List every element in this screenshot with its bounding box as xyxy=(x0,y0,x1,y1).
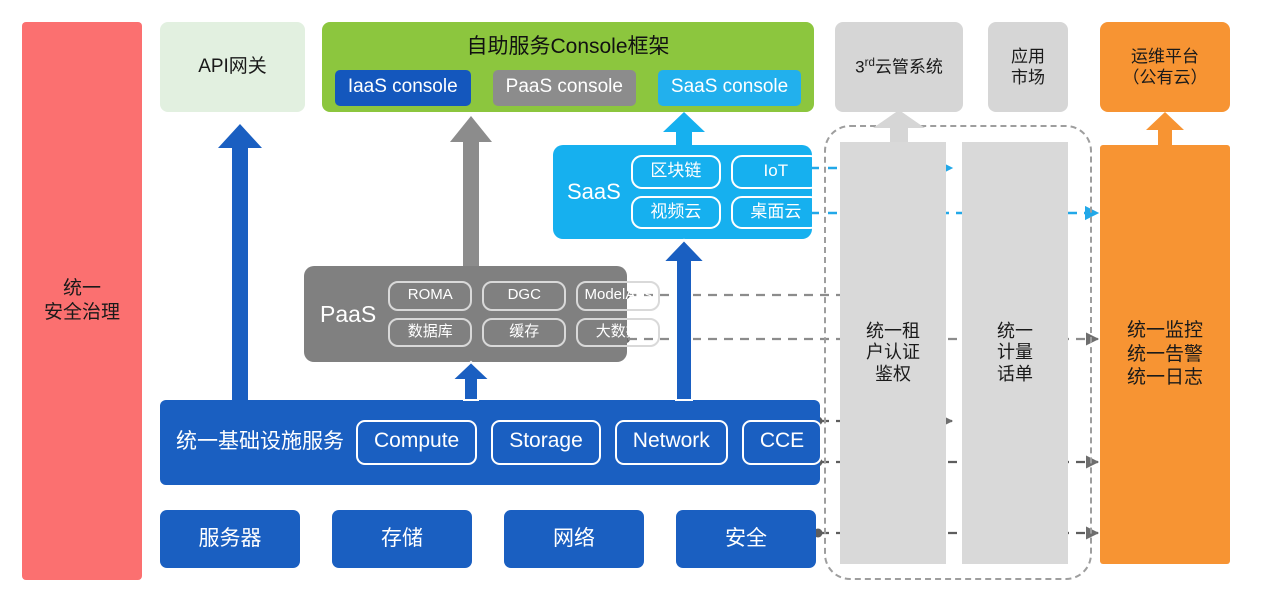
hardware-box-storage[interactable]: 存储 xyxy=(332,510,472,568)
infra-chip-network[interactable]: Network xyxy=(615,420,728,464)
unified-security-governance-panel[interactable]: 统一 安全治理 xyxy=(22,22,142,580)
api-gateway-label: API网关 xyxy=(198,55,267,79)
third-party-cloud-mgmt-label: 3rd云管系统 xyxy=(855,56,943,78)
console-chip-row: IaaS console PaaS console SaaS console xyxy=(335,70,801,106)
paas-label: PaaS xyxy=(320,300,376,329)
ops-platform-body-box[interactable]: 统一监控 统一告警 统一日志 xyxy=(1100,145,1230,564)
ops-platform-top-box[interactable]: 运维平台 （公有云） xyxy=(1100,22,1230,112)
saas-label: SaaS xyxy=(567,178,621,206)
saas-chip-video-cloud[interactable]: 视频云 xyxy=(631,196,721,229)
paas-chip-cache[interactable]: 缓存 xyxy=(482,318,566,348)
hardware-box-security[interactable]: 安全 xyxy=(676,510,816,568)
app-market-label: 应用 市场 xyxy=(1011,46,1045,89)
hardware-label-network: 网络 xyxy=(553,526,595,552)
api-gateway-box[interactable]: API网关 xyxy=(160,22,305,112)
hardware-label-storage: 存储 xyxy=(381,526,423,552)
unified-billing-label: 统一 计量 话单 xyxy=(997,321,1033,386)
saas-console-chip[interactable]: SaaS console xyxy=(658,70,801,106)
unified-billing-column[interactable]: 统一 计量 话单 xyxy=(962,142,1068,564)
paas-chip-bigdata[interactable]: 大数据 xyxy=(576,318,660,348)
arrow-saas-to-console xyxy=(663,112,705,148)
hardware-box-network[interactable]: 网络 xyxy=(504,510,644,568)
arrow-paas-to-console xyxy=(450,116,492,266)
console-framework-title: 自助服务Console框架 xyxy=(466,34,669,60)
app-market-box[interactable]: 应用 市场 xyxy=(988,22,1068,112)
paas-block[interactable]: PaaS ROMA DGC ModelArts 数据库 缓存 大数据 xyxy=(304,266,627,362)
paas-chip-modelarts[interactable]: ModelArts xyxy=(576,281,660,311)
hardware-label-server: 服务器 xyxy=(199,526,262,552)
saas-chip-blockchain[interactable]: 区块链 xyxy=(631,155,721,188)
infra-chip-cce[interactable]: CCE xyxy=(742,420,822,464)
third-party-cloud-mgmt-box[interactable]: 3rd云管系统 xyxy=(835,22,963,112)
saas-chip-iot[interactable]: IoT xyxy=(731,155,821,188)
hardware-box-server[interactable]: 服务器 xyxy=(160,510,300,568)
paas-chip-dgc[interactable]: DGC xyxy=(482,281,566,311)
unified-auth-label: 统一租 户认证 鉴权 xyxy=(866,321,920,386)
paas-console-chip[interactable]: PaaS console xyxy=(493,70,636,106)
ops-platform-top-label: 运维平台 （公有云） xyxy=(1123,46,1208,89)
arrow-infra-to-paas xyxy=(452,362,490,400)
ops-platform-body-label: 统一监控 统一告警 统一日志 xyxy=(1127,319,1203,390)
self-service-console-framework[interactable]: 自助服务Console框架 IaaS console PaaS console … xyxy=(322,22,814,112)
arrow-ops-body-to-top xyxy=(1146,112,1184,145)
arrow-infra-to-saas xyxy=(663,240,705,400)
infra-label: 统一基础设施服务 xyxy=(176,429,344,455)
infra-chip-compute[interactable]: Compute xyxy=(356,420,477,464)
architecture-diagram: 统一租 户认证 鉴权 统一 计量 话单 统一 安全治理 API网关 自助服务Co… xyxy=(0,0,1265,605)
saas-block[interactable]: SaaS 区块链 IoT 视频云 桌面云 xyxy=(553,145,812,239)
infra-chip-storage[interactable]: Storage xyxy=(491,420,601,464)
unified-auth-column[interactable]: 统一租 户认证 鉴权 xyxy=(840,142,946,564)
saas-chip-grid: 区块链 IoT 视频云 桌面云 xyxy=(631,155,821,229)
paas-chip-grid: ROMA DGC ModelArts 数据库 缓存 大数据 xyxy=(388,281,660,348)
unified-infrastructure-service-bar[interactable]: 统一基础设施服务 Compute Storage Network CCE xyxy=(160,400,820,485)
iaas-console-chip[interactable]: IaaS console xyxy=(335,70,471,106)
saas-chip-desktop-cloud[interactable]: 桌面云 xyxy=(731,196,821,229)
security-panel-label: 统一 安全治理 xyxy=(44,277,120,325)
hardware-label-security: 安全 xyxy=(725,526,767,552)
arrow-infra-to-api-gateway xyxy=(218,124,262,400)
paas-chip-roma[interactable]: ROMA xyxy=(388,281,472,311)
paas-chip-database[interactable]: 数据库 xyxy=(388,318,472,348)
